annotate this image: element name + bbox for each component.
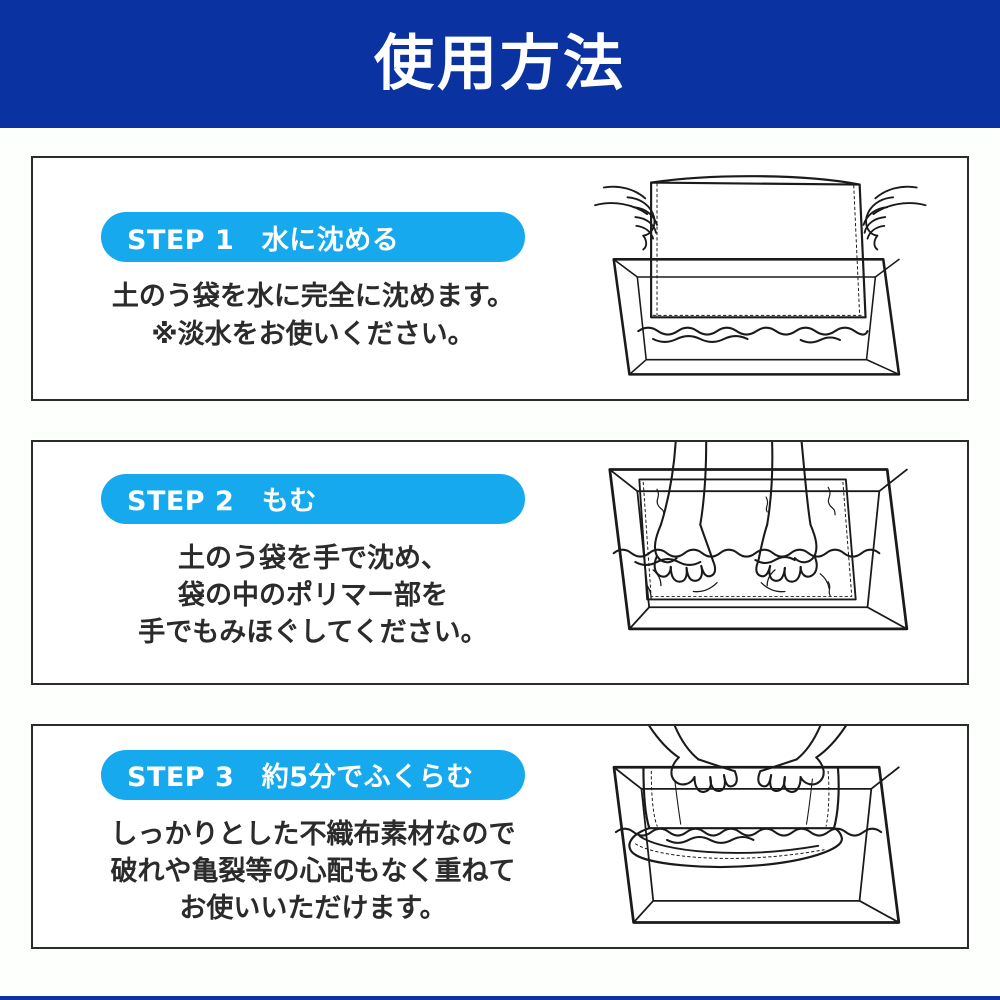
step-1-pill: STEP 1 水に沈める	[101, 212, 525, 262]
left-hand-grip	[649, 726, 736, 792]
bottom-rule	[0, 996, 1000, 1000]
step-1-body-text: 土のう袋を水に完全に沈めます。 ※淡水をお使いください。	[112, 278, 514, 353]
step-3-text-column: STEP 3 約5分でふくらむ しっかりとした不織布素材なので 破れや亀裂等の心…	[33, 726, 593, 949]
step-3-illustration	[589, 726, 967, 947]
step-2-body-line-1: 土のう袋を手で沈め、	[138, 540, 487, 577]
step-1-illustration	[589, 158, 967, 399]
step-2-body-line-2: 袋の中のポリマー部を	[138, 577, 487, 614]
step-3-body-text: しっかりとした不織布素材なので 破れや亀裂等の心配もなく重ねて お使いいただけま…	[111, 816, 516, 928]
right-hand-grip	[758, 726, 845, 792]
step-2-body-line-3: 手でもみほぐしてください。	[138, 614, 487, 651]
left-arm	[661, 442, 706, 525]
right-arm	[767, 442, 810, 525]
right-hand	[864, 187, 926, 250]
step-card-2: STEP 2 もむ 土のう袋を手で沈め、 袋の中のポリマー部を 手でもみほぐして…	[31, 440, 969, 685]
step-2-text-column: STEP 2 もむ 土のう袋を手で沈め、 袋の中のポリマー部を 手でもみほぐして…	[33, 442, 593, 683]
step-1-pill-label: STEP 1 水に沈める	[127, 218, 399, 257]
step-3-body-line-3: お使いいただけます。	[111, 890, 516, 927]
left-hand	[595, 187, 657, 250]
step-3-body-line-2: 破れや亀裂等の心配もなく重ねて	[111, 853, 516, 890]
sandbag-shape	[651, 176, 865, 317]
submerged-sandbag	[639, 479, 855, 599]
step-1-text-column: STEP 1 水に沈める 土のう袋を水に完全に沈めます。 ※淡水をお使いください…	[33, 158, 593, 403]
step-2-pill-label: STEP 2 もむ	[127, 479, 317, 518]
step-2-illustration	[589, 442, 967, 683]
step-3-pill: STEP 3 約5分でふくらむ	[101, 750, 525, 800]
header-banner: 使用方法	[0, 0, 1000, 128]
water-waves	[638, 328, 867, 343]
step-2-body-text: 土のう袋を手で沈め、 袋の中のポリマー部を 手でもみほぐしてください。	[138, 540, 487, 652]
step-1-body-line-2: ※淡水をお使いください。	[112, 316, 514, 353]
step-1-body-line-1: 土のう袋を水に完全に沈めます。	[112, 278, 514, 315]
page-title: 使用方法	[374, 34, 626, 94]
step-3-pill-label: STEP 3 約5分でふくらむ	[127, 755, 474, 794]
step-3-body-line-1: しっかりとした不織布素材なので	[111, 816, 516, 853]
water-waves	[614, 550, 880, 565]
step-card-3: STEP 3 約5分でふくらむ しっかりとした不織布素材なので 破れや亀裂等の心…	[31, 724, 969, 949]
step-2-pill: STEP 2 もむ	[101, 474, 525, 524]
step-card-1: STEP 1 水に沈める 土のう袋を水に完全に沈めます。 ※淡水をお使いください…	[31, 156, 969, 401]
